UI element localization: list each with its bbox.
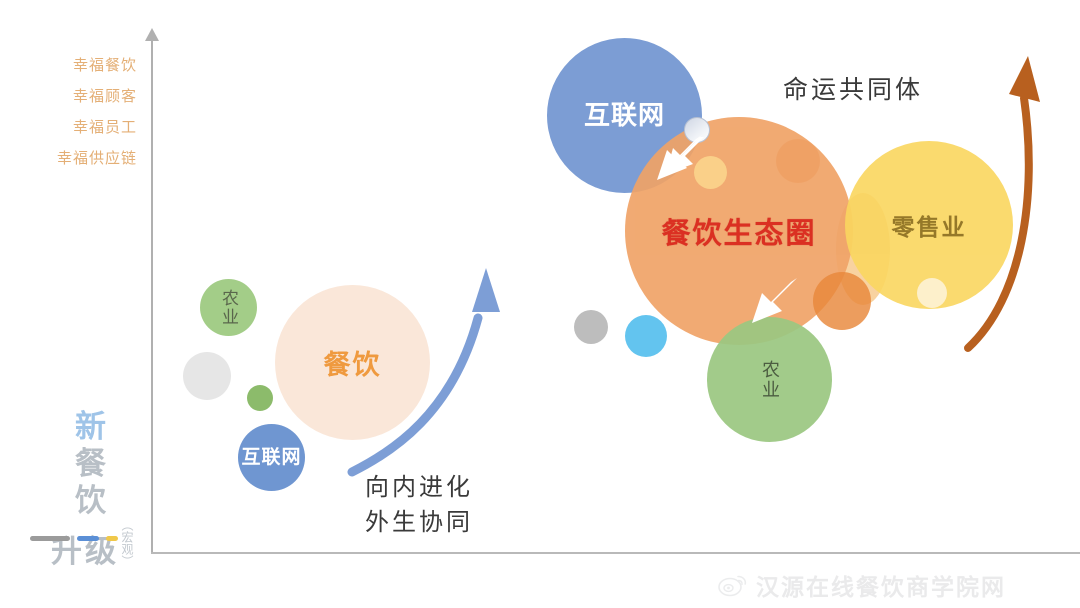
bubble-cyan-right: [625, 315, 667, 357]
infographic-canvas: 幸福餐饮 幸福顾客 幸福员工 幸福供应链 新 餐 饮 升 级 （宏观） 餐饮 农…: [0, 0, 1080, 608]
bubble-agriculture-right: 农业: [707, 317, 832, 442]
title-char-yin: 饮: [38, 482, 146, 519]
bubble-label-agriculture-right: 农业: [760, 360, 779, 400]
title-char-can: 餐: [38, 445, 146, 482]
annotation-evolve-line2: 外生协同: [365, 505, 473, 540]
title-paren-macro: （宏观）: [120, 519, 133, 567]
annotation-evolve: 向内进化 外生协同: [365, 470, 473, 540]
bubble-gray-left: [183, 352, 231, 400]
bubble-label-internet-left: 互联网: [241, 448, 301, 467]
watermark-text: 汉源在线餐饮商学院网: [756, 568, 1006, 602]
y-tick-label-1: 幸福顾客: [0, 81, 137, 112]
blue-dash-icon: [77, 536, 99, 541]
bubble-green-small-left: [247, 385, 273, 411]
bubble-label-agriculture-left: 农业: [219, 289, 238, 327]
bubble-label-ecosystem: 餐饮生态圈: [661, 210, 816, 252]
bubble-label-internet-right: 互联网: [584, 106, 665, 125]
title-row-upgrade: 升 级 （宏观）: [38, 519, 146, 570]
annotation-destiny: 命运共同体: [783, 70, 923, 106]
title-char-new: 新: [38, 408, 146, 445]
bubble-label-catering: 餐饮: [324, 343, 382, 382]
weibo-icon: [718, 572, 748, 598]
annotation-evolve-line1: 向内进化: [365, 473, 473, 501]
yellow-dash-icon: [106, 536, 118, 541]
chart-title-vertical: 新 餐 饮 升 级 （宏观）: [38, 408, 146, 570]
gray-dash-icon: [30, 536, 70, 541]
bubble-gray-right: [574, 310, 608, 344]
legend-dashes: [30, 536, 118, 541]
bubble-yellow-accent: [694, 156, 727, 189]
y-axis-line: [151, 36, 153, 554]
y-tick-label-0: 幸福餐饮: [0, 50, 137, 81]
bubble-cream-accent: [917, 278, 947, 308]
bubble-internet-left: 互联网: [238, 424, 305, 491]
y-tick-label-2: 幸福员工: [0, 112, 137, 143]
bubble-catering-left: 餐饮: [275, 285, 430, 440]
watermark: 汉源在线餐饮商学院网: [718, 568, 1006, 602]
bubble-label-retail: 零售业: [892, 208, 967, 242]
bubble-sheen-accent: [684, 117, 710, 143]
x-axis-line: [151, 552, 1080, 554]
bubble-orange-accent-b: [813, 272, 871, 330]
y-axis-tick-labels: 幸福餐饮 幸福顾客 幸福员工 幸福供应链: [0, 50, 145, 174]
y-tick-label-3: 幸福供应链: [0, 143, 137, 174]
y-axis-arrowhead: [145, 28, 159, 41]
bubble-agriculture-left: 农业: [200, 279, 257, 336]
